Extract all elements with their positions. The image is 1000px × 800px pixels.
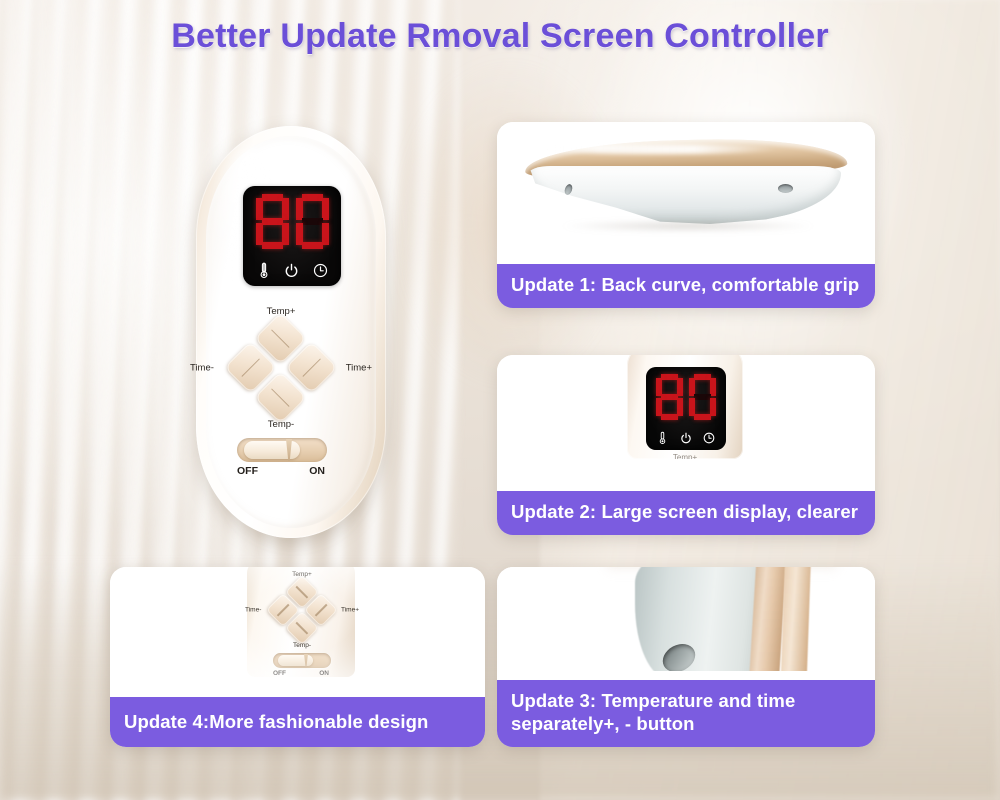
power-switch-closeup[interactable]: OFF ON bbox=[273, 653, 331, 677]
device-curved-back bbox=[529, 166, 841, 224]
led-indicator-icons-closeup bbox=[646, 431, 726, 445]
feature-caption-2: Update 2: Large screen display, clearer bbox=[497, 491, 875, 535]
switch-track[interactable] bbox=[237, 438, 327, 462]
control-pad-buttons-closeup: Temp+ Temp- Time- Time+ bbox=[267, 573, 337, 647]
switch-knob-closeup[interactable] bbox=[278, 655, 313, 666]
switch-track-closeup[interactable] bbox=[273, 653, 331, 668]
page-title: Better Update Rmoval Screen Controller bbox=[0, 17, 1000, 56]
switch-on-label-closeup: ON bbox=[319, 670, 329, 677]
led-digit-ones bbox=[296, 194, 329, 250]
macro-gold-trim-secondary bbox=[781, 567, 812, 671]
control-pad: Temp+ Temp- Time- Time+ bbox=[224, 308, 338, 428]
cropped-temp-label: Temp+ bbox=[627, 453, 743, 459]
switch-on-label: ON bbox=[309, 465, 325, 477]
clock-icon bbox=[703, 432, 715, 444]
control-pad-closeup: Temp+ Temp- Time- Time+ OFF ON bbox=[247, 567, 355, 677]
feature-caption-4: Update 4:More fashionable design bbox=[110, 697, 485, 747]
thermometer-icon bbox=[257, 262, 271, 279]
led-indicator-icons bbox=[243, 262, 341, 279]
feature-card-update-3[interactable]: Update 3: Temperature and time separatel… bbox=[497, 567, 875, 747]
caption-prefix-2: Update 2: bbox=[511, 501, 596, 522]
feature-card-update-1[interactable]: Update 1: Back curve, comfortable grip bbox=[497, 122, 875, 308]
led-digit-ones-closeup bbox=[689, 374, 716, 420]
feature-card-update-2[interactable]: Temp+ Update 2: Large screen display, cl… bbox=[497, 355, 875, 535]
feature-photo-buttons-macro bbox=[497, 567, 875, 671]
main-product-image: Temp+ Temp- Time- Time+ OFF ON bbox=[196, 126, 386, 538]
led-digit-tens bbox=[256, 194, 289, 250]
label-time-up-closeup: Time+ bbox=[341, 607, 359, 614]
label-time-down-closeup: Time- bbox=[245, 607, 261, 614]
led-display-closeup bbox=[646, 367, 726, 450]
led-digits-closeup bbox=[646, 374, 726, 420]
macro-device-body bbox=[635, 567, 765, 671]
device-vent-hole-right bbox=[778, 184, 793, 193]
clock-icon bbox=[313, 263, 328, 278]
feature-photo-large-screen: Temp+ bbox=[497, 355, 875, 459]
device-rim-gloss bbox=[539, 144, 779, 154]
device-side-profile bbox=[525, 140, 847, 228]
caption-text-1: Back curve, comfortable grip bbox=[601, 274, 859, 295]
feature-caption-3: Update 3: Temperature and time separatel… bbox=[497, 680, 875, 747]
switch-knob[interactable] bbox=[244, 441, 300, 459]
product-outer-shell: Temp+ Temp- Time- Time+ OFF ON bbox=[196, 126, 386, 538]
power-switch[interactable]: OFF ON bbox=[237, 438, 327, 486]
device-screen-closeup: Temp+ bbox=[627, 355, 743, 459]
led-digit-tens-closeup bbox=[656, 374, 683, 420]
thermometer-icon bbox=[657, 431, 668, 445]
label-time-down: Time- bbox=[190, 363, 214, 374]
feature-caption-1: Update 1: Back curve, comfortable grip bbox=[497, 264, 875, 308]
feature-photo-back-curve bbox=[497, 122, 875, 246]
feature-card-update-4[interactable]: Temp+ Temp- Time- Time+ OFF ON Update 4:… bbox=[110, 567, 485, 747]
caption-prefix-4: Update 4:More fashionable design bbox=[124, 711, 428, 732]
led-digits bbox=[243, 194, 341, 250]
caption-text-2: Large screen display, clearer bbox=[601, 501, 858, 522]
caption-prefix-3: Update 3: bbox=[511, 690, 596, 711]
feature-photo-control-pad: Temp+ Temp- Time- Time+ OFF ON bbox=[110, 567, 485, 677]
caption-prefix-1: Update 1: bbox=[511, 274, 596, 295]
power-icon bbox=[680, 432, 692, 445]
led-display bbox=[243, 186, 341, 286]
device-contact-shadow bbox=[559, 220, 817, 232]
switch-off-label-closeup: OFF bbox=[273, 670, 286, 677]
power-icon bbox=[284, 263, 299, 279]
label-time-up: Time+ bbox=[346, 363, 372, 374]
switch-off-label: OFF bbox=[237, 465, 258, 477]
device-edge-macro bbox=[497, 567, 875, 671]
